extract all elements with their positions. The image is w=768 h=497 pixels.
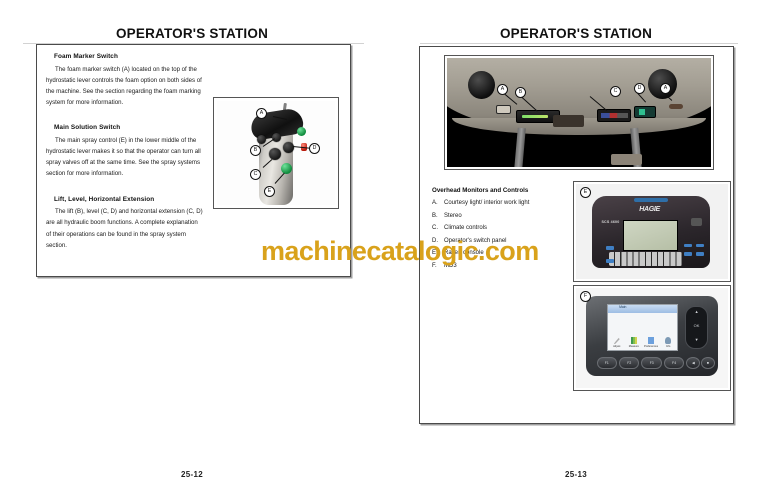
- left-text-column: Foam Marker Switch The foam marker switc…: [46, 53, 204, 260]
- callout-c: C: [250, 169, 261, 180]
- paragraph-foam-marker-switch: The foam marker switch (A) located on th…: [46, 64, 204, 109]
- list-item-label: Stereo: [444, 213, 462, 219]
- callout-oh-a: A: [497, 84, 508, 95]
- list-item-key: B.: [432, 213, 444, 219]
- speaker-left: [468, 71, 494, 99]
- paragraph-lift-level-horizontal-extension: The lift (B), level (C, D) and horizonta…: [46, 206, 204, 251]
- callout-oh-d: D: [634, 83, 645, 94]
- md3-icon-info: Info: [660, 337, 677, 348]
- raven-side-handle: [691, 218, 702, 227]
- md3-back-button: ◀: [686, 357, 700, 369]
- md3-console-figure: F Main Adjust Measure Preferences Info ▲…: [573, 285, 731, 391]
- raven-keypad-row-2: [609, 259, 682, 265]
- callout-f-md3: F: [580, 291, 591, 302]
- list-item-key: C.: [432, 225, 444, 231]
- callout-oh-b: B: [515, 87, 526, 98]
- md3-icon-preferences: Preferences: [642, 337, 659, 348]
- title-rule-right: [420, 43, 738, 44]
- watermark: machinecatalogic.com: [261, 236, 539, 267]
- md3-function-key-f3: F3: [641, 357, 661, 369]
- raven-button-right-3: [684, 252, 692, 256]
- md3-function-key-f4: F4: [664, 357, 684, 369]
- raven-model-label: SCS 4600: [601, 220, 619, 224]
- lever-knob-d: [283, 142, 294, 153]
- callout-oh-a-right: A: [660, 83, 671, 94]
- md3-nav-ok-button: OK: [694, 323, 700, 328]
- raven-console-photo: HAGIE SCS 4600: [592, 196, 710, 268]
- climate-controls: [634, 106, 656, 118]
- heading-main-solution-switch: Main Solution Switch: [54, 124, 204, 131]
- operators-switch-panel: [597, 109, 631, 122]
- md3-console-photo: Main Adjust Measure Preferences Info ▲ O…: [586, 296, 718, 376]
- md3-display: Main Adjust Measure Preferences Info: [607, 304, 678, 351]
- page-title-right: OPERATOR'S STATION: [384, 26, 768, 41]
- headliner-recess: [553, 115, 585, 127]
- callout-a: A: [256, 108, 267, 119]
- md3-function-key-f2: F2: [619, 357, 639, 369]
- list-item-key: A.: [432, 200, 444, 206]
- list-item-label: Climate controls: [444, 225, 487, 231]
- callout-b: B: [250, 145, 261, 156]
- interior-work-light: [669, 104, 684, 109]
- heading-lift-level-horizontal-extension: Lift, Level, Horizontal Extension: [54, 196, 204, 203]
- raven-brand-label: HAGIE: [639, 206, 660, 213]
- list-item-label: Courtesy light/ interior work light: [444, 200, 529, 206]
- list-item: C. Climate controls: [432, 225, 574, 231]
- callout-oh-c: C: [610, 86, 621, 97]
- heading-foam-marker-switch: Foam Marker Switch: [54, 53, 204, 60]
- md3-icon-adjust: Adjust: [608, 337, 625, 348]
- list-heading: Overhead Monitors and Controls: [432, 187, 574, 194]
- raven-display: [623, 220, 678, 251]
- page-title-left: OPERATOR'S STATION: [0, 26, 384, 41]
- hydrostatic-lever-figure: A B C D E: [213, 97, 339, 209]
- md3-icon-measure: Measure: [625, 337, 642, 348]
- list-item: A. Courtesy light/ interior work light: [432, 200, 574, 206]
- cab-post-left: [514, 127, 526, 167]
- folio-right: 25-13: [384, 470, 768, 479]
- md3-nav-up-icon: ▲: [695, 309, 699, 314]
- callout-e: E: [264, 186, 275, 197]
- raven-button-left-2: [606, 259, 614, 263]
- content-box-right: A B C D A Overhead Monitors and Controls…: [419, 46, 734, 424]
- lever-knob-b: [257, 135, 266, 144]
- md3-power-button: ■: [701, 357, 715, 369]
- md3-screen-title: Main: [619, 305, 626, 309]
- seat-headrest: [611, 154, 643, 165]
- list-item: B. Stereo: [432, 213, 574, 219]
- lever-knob-green-upper: [297, 127, 306, 136]
- raven-button-right-1: [684, 244, 692, 248]
- raven-button-right-4: [696, 252, 704, 256]
- raven-button-right-2: [696, 244, 704, 248]
- raven-button-left-1: [606, 246, 614, 250]
- raven-console-figure: E HAGIE SCS 4600: [573, 181, 731, 282]
- md3-function-key-f1: F1: [597, 357, 617, 369]
- md3-nav-down-icon: ▼: [695, 337, 699, 342]
- callout-d: D: [309, 143, 320, 154]
- overhead-console-photo: [447, 58, 711, 167]
- overhead-console-figure: A B C D A: [444, 55, 714, 170]
- folio-left: 25-12: [0, 470, 384, 479]
- courtesy-light: [496, 105, 511, 115]
- callout-e-raven: E: [580, 187, 591, 198]
- raven-top-strip: [634, 198, 667, 202]
- md3-nav-pad: ▲ OK ▼: [685, 306, 708, 350]
- paragraph-main-solution-switch: The main spray control (E) in the lower …: [46, 135, 204, 180]
